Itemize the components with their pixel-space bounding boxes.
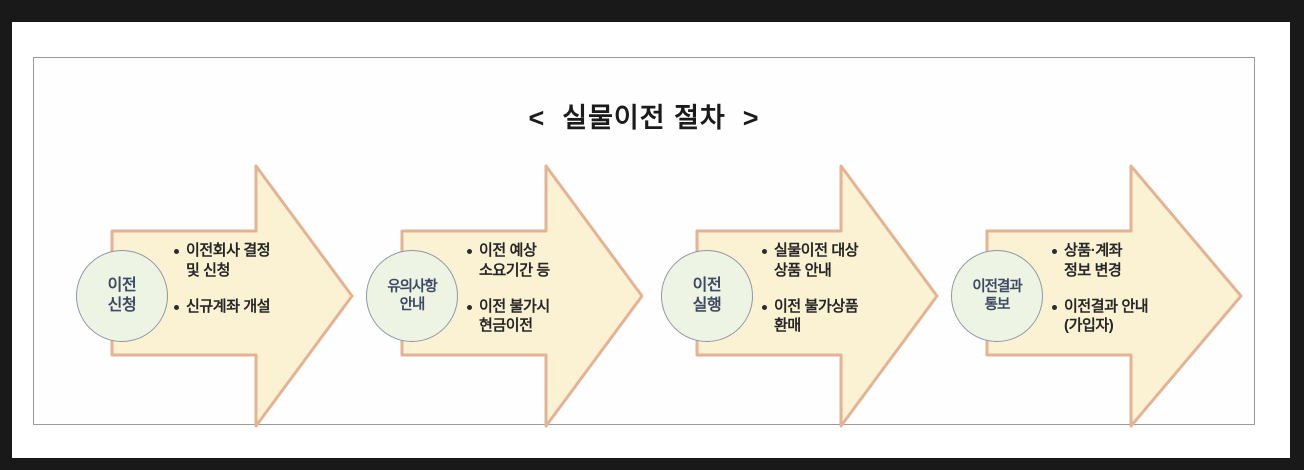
bullet-dot-icon — [467, 249, 472, 254]
step-bullets-4: 상품·계좌 정보 변경 이전결과 안내 (가입자) — [1052, 241, 1222, 336]
process-flow: 이전 신청 이전회사 결정 및 신청 신규계좌 개설 — [34, 58, 1256, 426]
step-circle-line: 신청 — [108, 296, 137, 316]
bullet-label: 실물이전 대상 상품 안내 — [774, 241, 858, 281]
diagram-frame: < 실물이전 절차 > 이전 신청 이전회사 결정 및 신청 — [33, 57, 1255, 425]
screenshot-canvas: < 실물이전 절차 > 이전 신청 이전회사 결정 및 신청 — [0, 0, 1304, 470]
process-step-1: 이전 신청 이전회사 결정 및 신청 신규계좌 개설 — [74, 58, 374, 426]
bullet-label: 이전 예상 소요기간 등 — [479, 241, 550, 281]
bullet-label: 신규계좌 개설 — [186, 297, 270, 317]
step-bullets-2: 이전 예상 소요기간 등 이전 불가시 현금이전 — [467, 241, 627, 336]
bullet-label: 이전결과 안내 (가입자) — [1064, 297, 1148, 337]
bullet-label: 이전 불가시 현금이전 — [479, 297, 550, 337]
step-bullets-3: 실물이전 대상 상품 안내 이전 불가상품 환매 — [762, 241, 932, 336]
step-circle-2[interactable]: 유의사항 안내 — [366, 250, 458, 342]
process-step-3: 이전 실행 실물이전 대상 상품 안내 이전 불가상품 환매 — [659, 58, 959, 426]
document-page: < 실물이전 절차 > 이전 신청 이전회사 결정 및 신청 — [12, 22, 1290, 458]
bullet-item: 이전 불가상품 환매 — [762, 297, 932, 337]
bullet-item: 실물이전 대상 상품 안내 — [762, 241, 932, 281]
step-circle-line: 이전 — [108, 276, 137, 296]
step-circle-3[interactable]: 이전 실행 — [661, 250, 753, 342]
step-circle-line: 안내 — [400, 296, 425, 314]
step-circle-line: 이전결과 — [972, 278, 1021, 296]
step-circle-line: 이전 — [693, 276, 722, 296]
step-circle-4[interactable]: 이전결과 통보 — [951, 250, 1043, 342]
bullet-dot-icon — [762, 249, 767, 254]
bullet-dot-icon — [1052, 249, 1057, 254]
bullet-label: 상품·계좌 정보 변경 — [1064, 241, 1122, 281]
bullet-dot-icon — [467, 305, 472, 310]
process-step-4: 이전결과 통보 상품·계좌 정보 변경 이전결과 안내 (가입자) — [949, 58, 1249, 426]
bullet-dot-icon — [762, 305, 767, 310]
step-circle-line: 실행 — [693, 296, 722, 316]
bullet-label: 이전 불가상품 환매 — [774, 297, 858, 337]
bullet-item: 이전 예상 소요기간 등 — [467, 241, 627, 281]
bullet-dot-icon — [174, 305, 179, 310]
step-bullets-1: 이전회사 결정 및 신청 신규계좌 개설 — [174, 241, 339, 316]
step-circle-1[interactable]: 이전 신청 — [76, 250, 168, 342]
bullet-item: 상품·계좌 정보 변경 — [1052, 241, 1222, 281]
step-circle-line: 유의사항 — [387, 278, 436, 296]
bullet-item: 신규계좌 개설 — [174, 297, 339, 317]
bullet-item: 이전 불가시 현금이전 — [467, 297, 627, 337]
bullet-label: 이전회사 결정 및 신청 — [186, 241, 270, 281]
bullet-dot-icon — [174, 249, 179, 254]
process-step-2: 유의사항 안내 이전 예상 소요기간 등 이전 불가시 현금이전 — [364, 58, 664, 426]
bullet-item: 이전결과 안내 (가입자) — [1052, 297, 1222, 337]
bullet-dot-icon — [1052, 305, 1057, 310]
bullet-item: 이전회사 결정 및 신청 — [174, 241, 339, 281]
step-circle-line: 통보 — [985, 296, 1010, 314]
